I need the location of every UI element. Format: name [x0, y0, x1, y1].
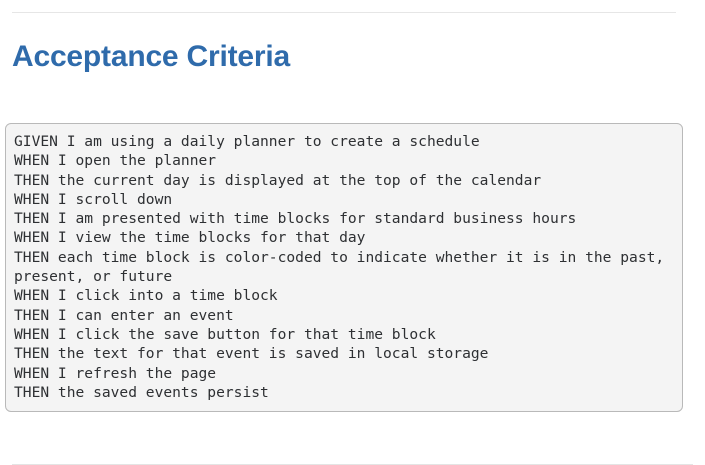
page-title: Acceptance Criteria [12, 38, 290, 76]
acceptance-criteria-text: GIVEN I am using a daily planner to crea… [14, 132, 672, 402]
acceptance-criteria-code-block: GIVEN I am using a daily planner to crea… [5, 123, 683, 412]
top-divider [12, 12, 676, 13]
document-page: Acceptance Criteria GIVEN I am using a d… [0, 0, 705, 464]
